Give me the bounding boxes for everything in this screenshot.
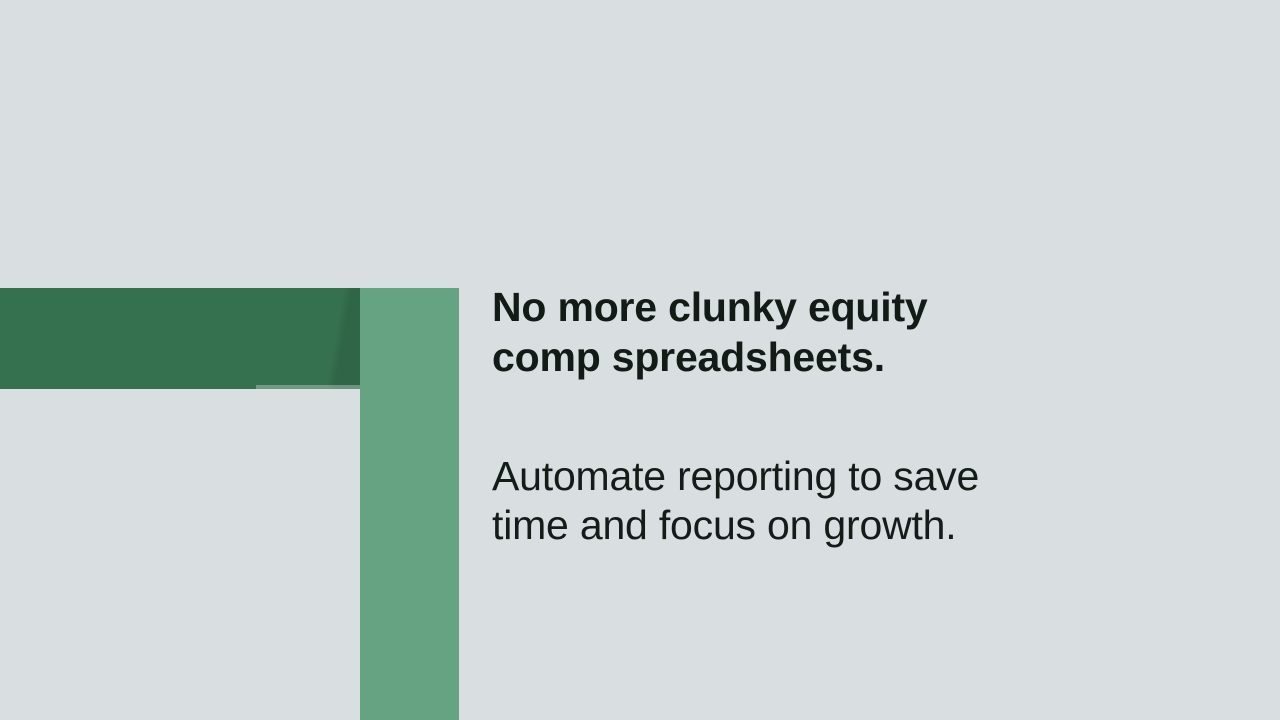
dark-green-bar-bottom-edge [256,385,360,389]
slide-text-block: No more clunky equity comp spreadsheets.… [492,282,1132,550]
slide-subhead: Automate reporting to save time and focu… [492,382,1132,550]
green-bars-decoration [0,0,470,720]
light-green-vertical-bar [360,288,459,720]
slide-canvas: No more clunky equity comp spreadsheets.… [0,0,1280,720]
slide-headline: No more clunky equity comp spreadsheets. [492,282,1132,382]
dark-green-horizontal-bar [0,288,360,389]
dark-green-bar-shadow [318,288,360,389]
